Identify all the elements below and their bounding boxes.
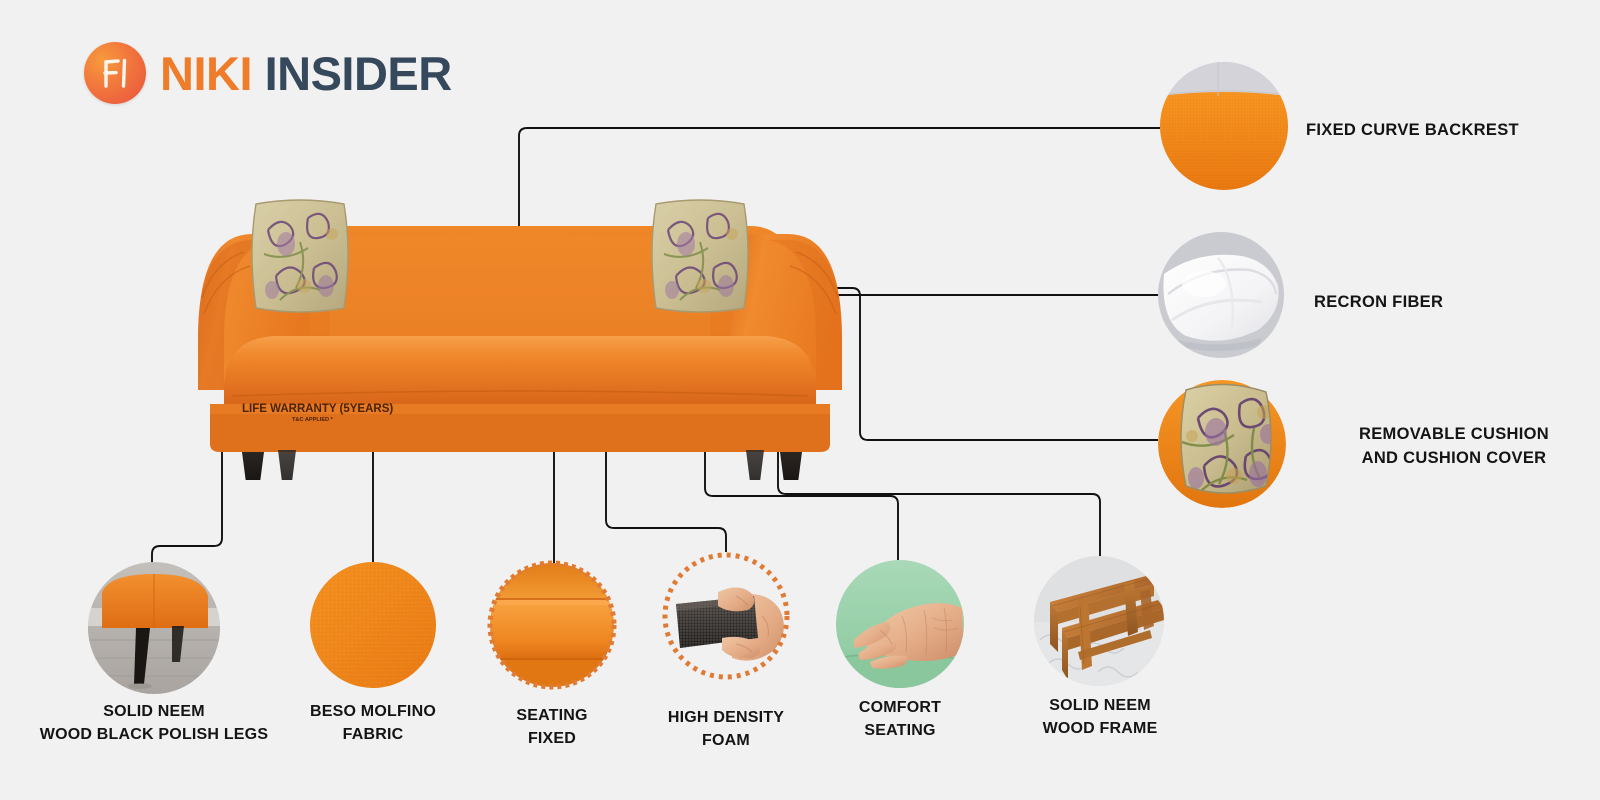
label-recron-fiber: RECRON FIBER bbox=[1314, 291, 1594, 315]
warranty-subtext: T&C APPLIED * bbox=[292, 417, 334, 423]
label-solid-neem-wood-frame: SOLID NEEM WOOD FRAME bbox=[1018, 694, 1182, 740]
callout-seating-fixed[interactable] bbox=[487, 560, 617, 690]
orange-fabric-swatch-thumb bbox=[310, 562, 436, 688]
sofa-leg-thumb bbox=[88, 562, 220, 694]
fixed-seat-thumb bbox=[487, 560, 617, 690]
callout-fixed-curve-backrest[interactable] bbox=[1160, 62, 1288, 190]
fi-monogram-icon bbox=[84, 42, 146, 104]
warranty-text: LIFE WARRANTY (5YEARS) bbox=[242, 403, 393, 415]
label-beso-molfino-fabric: BESO MOLFINO FABRIC bbox=[268, 700, 478, 746]
hand-holding-foam-thumb bbox=[662, 552, 790, 680]
brand-logo: NIKI INSIDER bbox=[84, 42, 452, 104]
callout-comfort-seating[interactable] bbox=[836, 560, 964, 688]
product-image-sofa: LIFE WARRANTY (5YEARS) T&C APPLIED * bbox=[180, 190, 860, 480]
label-solid-neem-wood-legs: SOLID NEEM WOOD BLACK POLISH LEGS bbox=[22, 700, 286, 746]
brand-name-primary: NIKI bbox=[160, 47, 252, 100]
brand-name-secondary: INSIDER bbox=[265, 47, 452, 100]
brand-wordmark: NIKI INSIDER bbox=[160, 50, 452, 97]
callout-high-density-foam[interactable] bbox=[662, 552, 790, 680]
label-removable-cushion: REMOVABLE CUSHION AND CUSHION COVER bbox=[1324, 423, 1584, 471]
label-comfort-seating: COMFORT SEATING bbox=[818, 696, 982, 742]
backrest-fabric-thumb bbox=[1160, 62, 1288, 190]
hand-pressing-green-foam-thumb bbox=[836, 560, 964, 688]
callout-solid-neem-wood-legs[interactable] bbox=[88, 562, 220, 694]
callout-recron-fiber[interactable] bbox=[1158, 232, 1284, 358]
white-fiber-thumb bbox=[1158, 232, 1284, 358]
callout-removable-cushion[interactable] bbox=[1158, 380, 1286, 504]
callout-solid-neem-wood-frame[interactable] bbox=[1034, 556, 1164, 686]
infographic-canvas: NIKI INSIDER bbox=[0, 0, 1600, 800]
callout-beso-molfino-fabric[interactable] bbox=[310, 562, 436, 688]
label-seating-fixed: SEATING FIXED bbox=[470, 704, 634, 750]
label-fixed-curve-backrest: FIXED CURVE BACKREST bbox=[1306, 119, 1586, 143]
wooden-frame-thumb bbox=[1034, 556, 1164, 686]
floral-cushion-thumb bbox=[1158, 376, 1286, 504]
label-high-density-foam: HIGH DENSITY FOAM bbox=[640, 706, 812, 752]
